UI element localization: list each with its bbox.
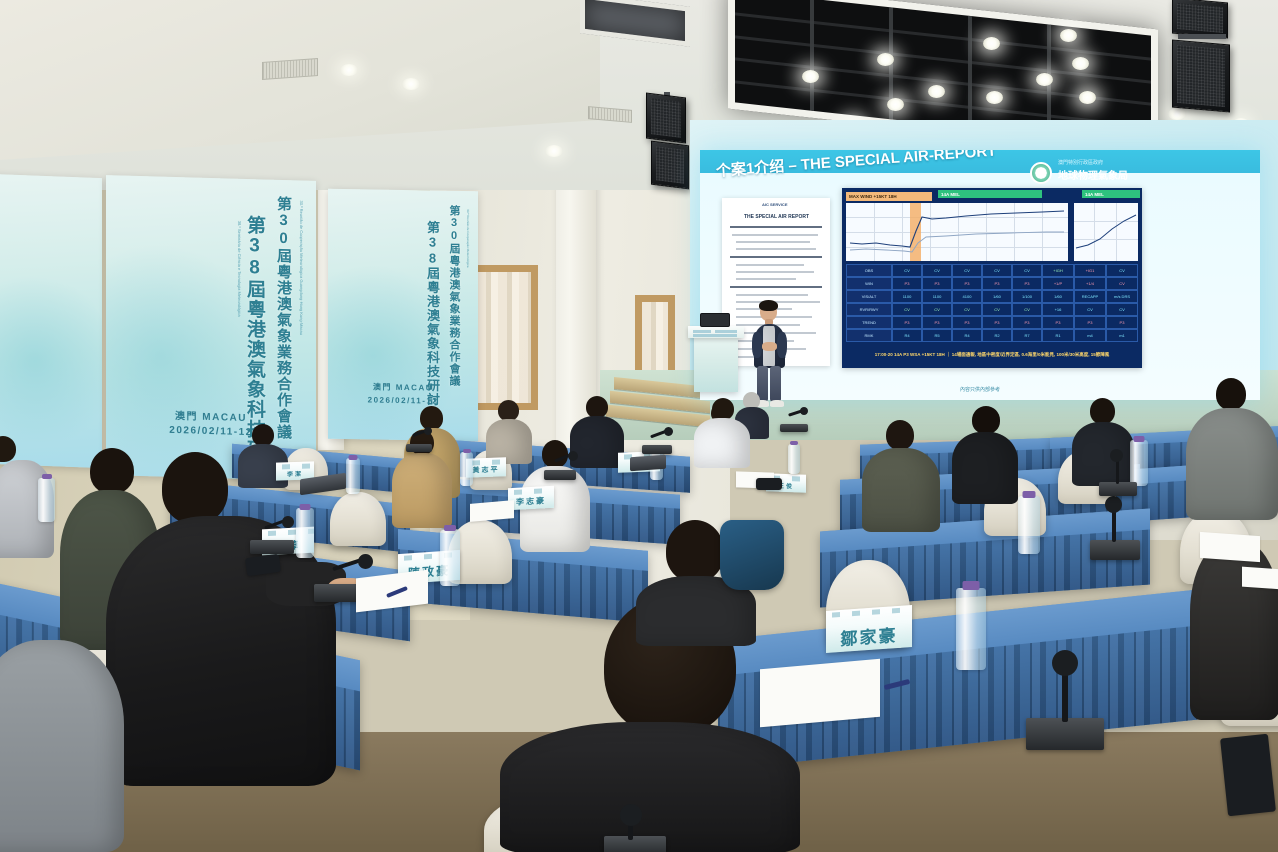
slide-footer-strip: 17:00-20 14A P3 WSA +15KT 18H ｜ 14場面通報, … (846, 348, 1138, 362)
doc-title: THE SPECIAL AIR REPORT (744, 214, 809, 220)
wall-speaker-upper-left (646, 93, 686, 144)
rollup-banner-far-left (0, 174, 102, 468)
downlight (877, 53, 894, 66)
water-bottle (346, 458, 360, 494)
downlight (887, 98, 904, 111)
banner-title-line1: 第30屆粵港澳氣象業務合作會議 (273, 196, 294, 441)
data-stamp: UTC 2025-04-16 1200UTC (1070, 188, 1142, 189)
chair (330, 492, 386, 546)
org-subtitle: 澳門特別行政區政府 (1058, 159, 1103, 166)
name-placard: 李志豪 (508, 486, 554, 510)
lectern (694, 336, 738, 392)
conference-microphone (542, 452, 578, 480)
conference-microphone (404, 428, 434, 452)
data-tag-left: MAX WIND +15KT 18H (846, 192, 932, 201)
pot-light (340, 64, 358, 76)
org-title: 地球物理氣象局 (1058, 167, 1128, 182)
speaker-bracket (1178, 34, 1226, 39)
backpack (720, 520, 784, 590)
placard-name: 李志豪 (516, 495, 546, 510)
conference-microphone (1096, 442, 1136, 494)
data-tag-mid: 14A MEL (938, 190, 1042, 198)
conference-microphone (640, 428, 674, 454)
smartphone[interactable] (1220, 734, 1276, 817)
water-bottle (440, 530, 460, 586)
conference-microphone (1086, 486, 1138, 558)
smg-seal-icon (1030, 162, 1052, 184)
water-bottle (460, 452, 473, 486)
pot-light (545, 145, 563, 157)
downlight (1060, 29, 1077, 42)
attendee-right-grey-shirt (1186, 378, 1278, 518)
lectern-top (688, 326, 744, 338)
placard-name: 黃志平 (473, 465, 500, 478)
chart-series-line (846, 203, 1068, 261)
presenter-hands (762, 342, 777, 351)
water-bottle (38, 478, 55, 522)
data-tag-right: 14A MEL (1082, 190, 1140, 198)
downlight (1036, 73, 1053, 86)
downlight (928, 85, 945, 98)
placard-name: 鄒家豪 (841, 621, 898, 652)
paper-sheet (760, 659, 880, 727)
rollup-banner-2: 第30屆粵港澳氣象業務合作會議 第38屆粵港澳氣象科技研討會 30.ª Reun… (328, 189, 478, 442)
banner-title-line1: 第30屆粵港澳氣象業務合作會議 (446, 205, 462, 387)
slide-chart (846, 203, 1068, 261)
banner-subtitle-pt2: 38.º Seminário de Ciência e Tecnologia M… (237, 221, 242, 317)
water-bottle (788, 444, 800, 474)
paper-sheet (470, 500, 514, 522)
smartphone[interactable] (756, 478, 782, 490)
wall-speaker-lower-left (651, 141, 689, 190)
wall-speaker-lower-right (1172, 39, 1230, 112)
banner-subtitle-pt1: 30.ª Reunião de Cooperação Meteorológica… (299, 200, 304, 335)
downlight (1079, 91, 1096, 104)
wall-speaker-upper-right (1172, 0, 1228, 38)
slide-data-table: OBS CV CV CV CV CV +IGH +IG1 CV WIN P3 P… (846, 264, 1138, 342)
pot-light (402, 78, 420, 90)
downlight (1072, 57, 1089, 70)
slide-chart-secondary (1074, 203, 1138, 261)
downlight (983, 37, 1000, 50)
water-bottle (956, 588, 986, 670)
conference-microphone (246, 516, 296, 554)
downlight (802, 70, 819, 83)
doc-header-right: AIC SERVICE (762, 202, 788, 207)
attendee-right-front-dark (1190, 540, 1278, 720)
paper-sheet (1242, 567, 1278, 590)
pot-light (1168, 108, 1186, 120)
name-placard: 鄒家豪 (826, 605, 912, 653)
attendee-back-white-shirt (694, 398, 750, 466)
conference-microphone (1020, 632, 1100, 750)
lectern-monitor (700, 313, 730, 327)
conference-microphone (598, 810, 668, 852)
attendee-right-black (952, 406, 1018, 502)
attendee-foreground-black-jacket (106, 452, 336, 782)
attendee-right-olive (862, 420, 940, 530)
conference-room-photo: 第30屆粵港澳氣象業務合作會議 第38屆粵港澳氣象科技研討會 30.ª Reun… (0, 0, 1278, 852)
downlight (986, 91, 1003, 104)
water-bottle (296, 508, 314, 558)
curtain (477, 272, 531, 403)
laptop[interactable] (630, 455, 666, 472)
banner-subtitle-pt1: 30.ª Reunião de Cooperação Meteorológica (466, 209, 470, 267)
paper-sheet (1200, 532, 1260, 562)
window-left (470, 265, 538, 410)
slide-data-panel: MAX WIND +15KT 18H 14A MEL 14A MEL UTC 2… (842, 188, 1142, 368)
attendee-left-front-grey (0, 640, 124, 852)
water-bottle (1018, 496, 1040, 554)
conference-microphone (778, 408, 810, 432)
